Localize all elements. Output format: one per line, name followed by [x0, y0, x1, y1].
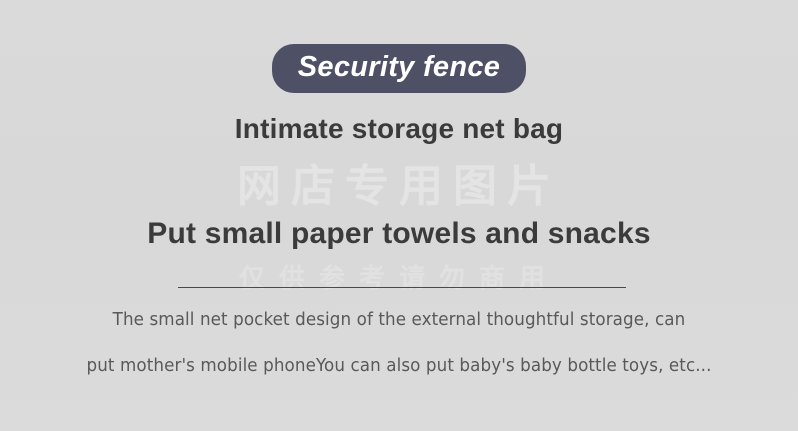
description-line-1: The small net pocket design of the exter…: [28, 297, 770, 343]
description-line-2: put mother's mobile phoneYou can also pu…: [28, 343, 770, 389]
description-block: The small net pocket design of the exter…: [0, 297, 798, 389]
heading-primary: Intimate storage net bag: [0, 113, 798, 145]
badge-row: Security fence: [0, 44, 798, 93]
heading-secondary: Put small paper towels and snacks: [0, 217, 798, 251]
background-watermark-bottom: 仅供参考请勿商用: [0, 258, 798, 295]
promo-banner: 网店专用图片 仅供参考请勿商用 Security fence Intimate …: [0, 0, 798, 431]
background-watermark-top: 网店专用图片: [0, 150, 798, 214]
security-fence-badge: Security fence: [272, 44, 526, 93]
horizontal-divider: [178, 287, 626, 288]
